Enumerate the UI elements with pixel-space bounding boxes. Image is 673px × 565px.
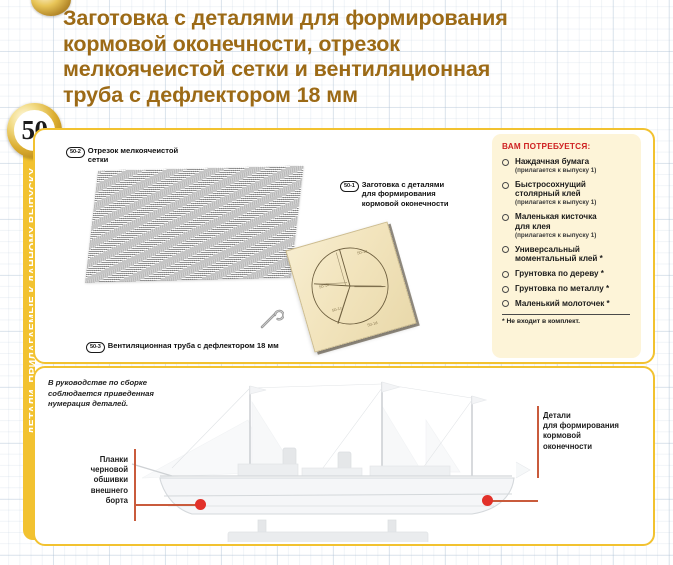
checkbox-circle-icon[interactable]: [502, 300, 509, 307]
svg-text:50-1d: 50-1d: [367, 320, 378, 328]
part-callout-50-1: 50-1 Заготовка с деталями для формирован…: [340, 180, 500, 208]
callout-rule-right-horizontal: [487, 500, 538, 502]
requirement-label: Наждачная бумага: [515, 157, 632, 166]
requirement-note: (прилагается к выпуску 1): [515, 199, 632, 207]
callout-label-left: Планки черновой обшивки внешнего борта: [58, 455, 128, 506]
requirement-label: Грунтовка по металлу *: [515, 284, 632, 293]
callout-rule-right-vertical: [537, 406, 539, 478]
requirement-item[interactable]: Грунтовка по дереву *: [502, 269, 632, 278]
part-label: Заготовка с деталями для формирования ко…: [362, 180, 449, 208]
part-callout-50-3: 50-3 Вентиляционная труба с дефлектором …: [86, 341, 346, 353]
requirement-label: Маленькая кисточка для клея: [515, 212, 632, 231]
requirement-label: Универсальный моментальный клей *: [515, 245, 632, 264]
requirement-item[interactable]: Универсальный моментальный клей *: [502, 245, 632, 264]
checkbox-circle-icon[interactable]: [502, 286, 509, 293]
requirement-label: Грунтовка по дереву *: [515, 269, 632, 278]
requirement-item[interactable]: Маленький молоточек *: [502, 299, 632, 308]
requirements-divider: [502, 314, 630, 315]
checkbox-circle-icon[interactable]: [502, 159, 509, 166]
vent-tube-image: [258, 308, 284, 330]
requirement-item[interactable]: Быстросохнущий столярный клей (прилагает…: [502, 180, 632, 207]
callout-marker-dot-right: [482, 495, 493, 506]
svg-text:50-1b: 50-1b: [318, 282, 330, 290]
requirement-note: (прилагается к выпуску 1): [515, 232, 632, 240]
page-title: Заготовка с деталями для формирования ко…: [63, 6, 663, 108]
requirement-label: Маленький молоточек *: [515, 299, 632, 308]
callout-rule-left-horizontal: [134, 504, 200, 506]
requirement-item[interactable]: Грунтовка по металлу *: [502, 284, 632, 293]
part-callout-50-2: 50-2 Отрезок мелкоячеистой сетки: [66, 146, 246, 165]
requirement-note: (прилагается к выпуску 1): [515, 167, 632, 175]
callout-marker-dot-left: [195, 499, 206, 510]
svg-text:50-1c: 50-1c: [331, 305, 342, 313]
part-label: Вентиляционная труба с дефлектором 18 мм: [108, 341, 279, 350]
part-code: 50-3: [86, 342, 105, 353]
requirements-footnote: * Не входит в комплект.: [502, 318, 632, 325]
requirement-item[interactable]: Наждачная бумага (прилагается к выпуску …: [502, 157, 632, 175]
checkbox-circle-icon[interactable]: [502, 246, 509, 253]
part-label: Отрезок мелкоячеистой сетки: [88, 146, 178, 165]
callout-label-right: Детали для формирования кормовой оконечн…: [543, 411, 653, 452]
requirements-title: ВАМ ПОТРЕБУЕТСЯ:: [502, 142, 632, 151]
mesh-swatch-image: [85, 166, 304, 283]
requirement-item[interactable]: Маленькая кисточка для клея (прилагается…: [502, 212, 632, 239]
part-code: 50-2: [66, 147, 85, 158]
checkbox-circle-icon[interactable]: [502, 182, 509, 189]
callout-rule-left-vertical: [134, 449, 136, 521]
checkbox-circle-icon[interactable]: [502, 214, 509, 221]
part-code: 50-1: [340, 181, 359, 192]
checkbox-circle-icon[interactable]: [502, 271, 509, 278]
requirement-label: Быстросохнущий столярный клей: [515, 180, 632, 199]
requirements-box: ВАМ ПОТРЕБУЕТСЯ: Наждачная бумага (прила…: [492, 134, 641, 358]
ship-model-illustration: [120, 372, 540, 542]
